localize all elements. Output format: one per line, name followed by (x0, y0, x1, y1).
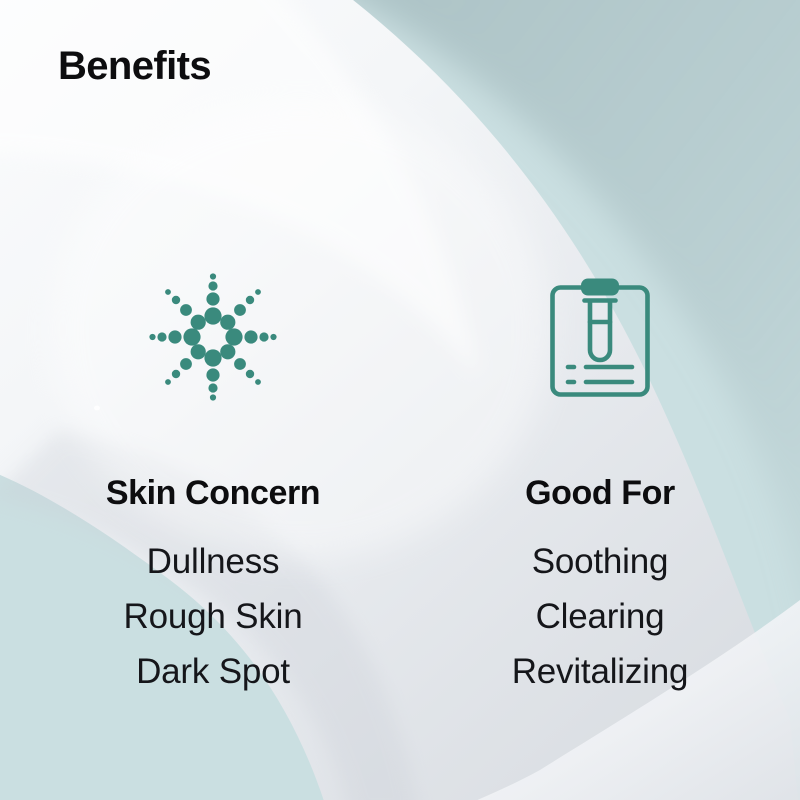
page-title: Benefits (58, 44, 211, 88)
benefits-columns: Skin Concern Dullness Rough Skin Dark Sp… (0, 262, 800, 699)
list-item: Rough Skin (124, 589, 303, 644)
benefit-list-good-for: Soothing Clearing Revitalizing (512, 534, 689, 699)
list-item: Dark Spot (124, 644, 303, 699)
clipboard-test-tube-icon (548, 262, 652, 412)
benefit-column-good-for: Good For Soothing Clearing Revitalizing (400, 262, 800, 699)
starburst-radiance-icon (147, 262, 279, 412)
benefit-column-skin-concern: Skin Concern Dullness Rough Skin Dark Sp… (0, 262, 400, 699)
benefits-infographic: Benefits (0, 0, 800, 800)
list-item: Soothing (512, 534, 689, 589)
benefit-heading-good-for: Good For (525, 476, 675, 510)
benefit-heading-skin-concern: Skin Concern (106, 476, 320, 510)
content-layer: Benefits (0, 0, 800, 800)
list-item: Dullness (124, 534, 303, 589)
benefit-list-skin-concern: Dullness Rough Skin Dark Spot (124, 534, 303, 699)
list-item: Revitalizing (512, 644, 689, 699)
list-item: Clearing (512, 589, 689, 644)
